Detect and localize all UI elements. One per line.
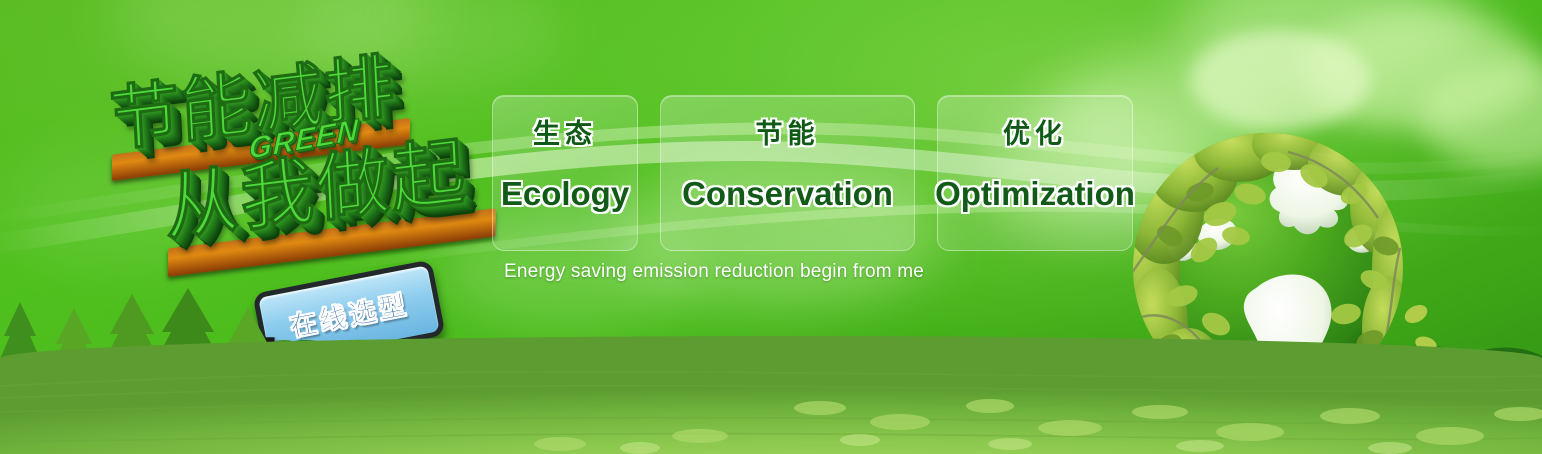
feature-card-ecology[interactable]: 生态 Ecology xyxy=(492,95,638,251)
cloud-icon xyxy=(1300,10,1540,130)
feature-card-optimization[interactable]: 优化 Optimization xyxy=(937,95,1133,251)
headline-3d-text: 节能减排 GREEN 从我做起 xyxy=(85,13,511,300)
leafy-earth-globe-icon xyxy=(1108,118,1438,430)
feature-card-conservation[interactable]: 节能 Conservation xyxy=(660,95,915,251)
cloud-icon xyxy=(1420,60,1542,170)
banner-tagline: Energy saving emission reduction begin f… xyxy=(504,261,924,283)
feature-card-list: 生态 Ecology 节能 Conservation 优化 Optimizati… xyxy=(492,95,1133,251)
pine-trees-icon xyxy=(0,286,360,396)
feature-card-cn-label: 节能 xyxy=(756,112,820,151)
feature-card-cn-label: 优化 xyxy=(1003,112,1067,151)
cloud-icon xyxy=(1190,30,1370,130)
feature-card-cn-label: 生态 xyxy=(533,112,597,151)
feature-card-en-label: Ecology xyxy=(501,175,629,213)
feature-card-en-label: Optimization xyxy=(935,175,1135,213)
globe-shadow xyxy=(1132,394,1412,428)
cloud-icon xyxy=(1180,0,1480,110)
eco-hero-banner: 节能减排 GREEN 从我做起 在线选型 生态 Ecology 节能 Conse… xyxy=(0,0,1542,454)
feature-card-en-label: Conservation xyxy=(682,175,893,213)
leafy-earth-globe xyxy=(1108,118,1438,430)
